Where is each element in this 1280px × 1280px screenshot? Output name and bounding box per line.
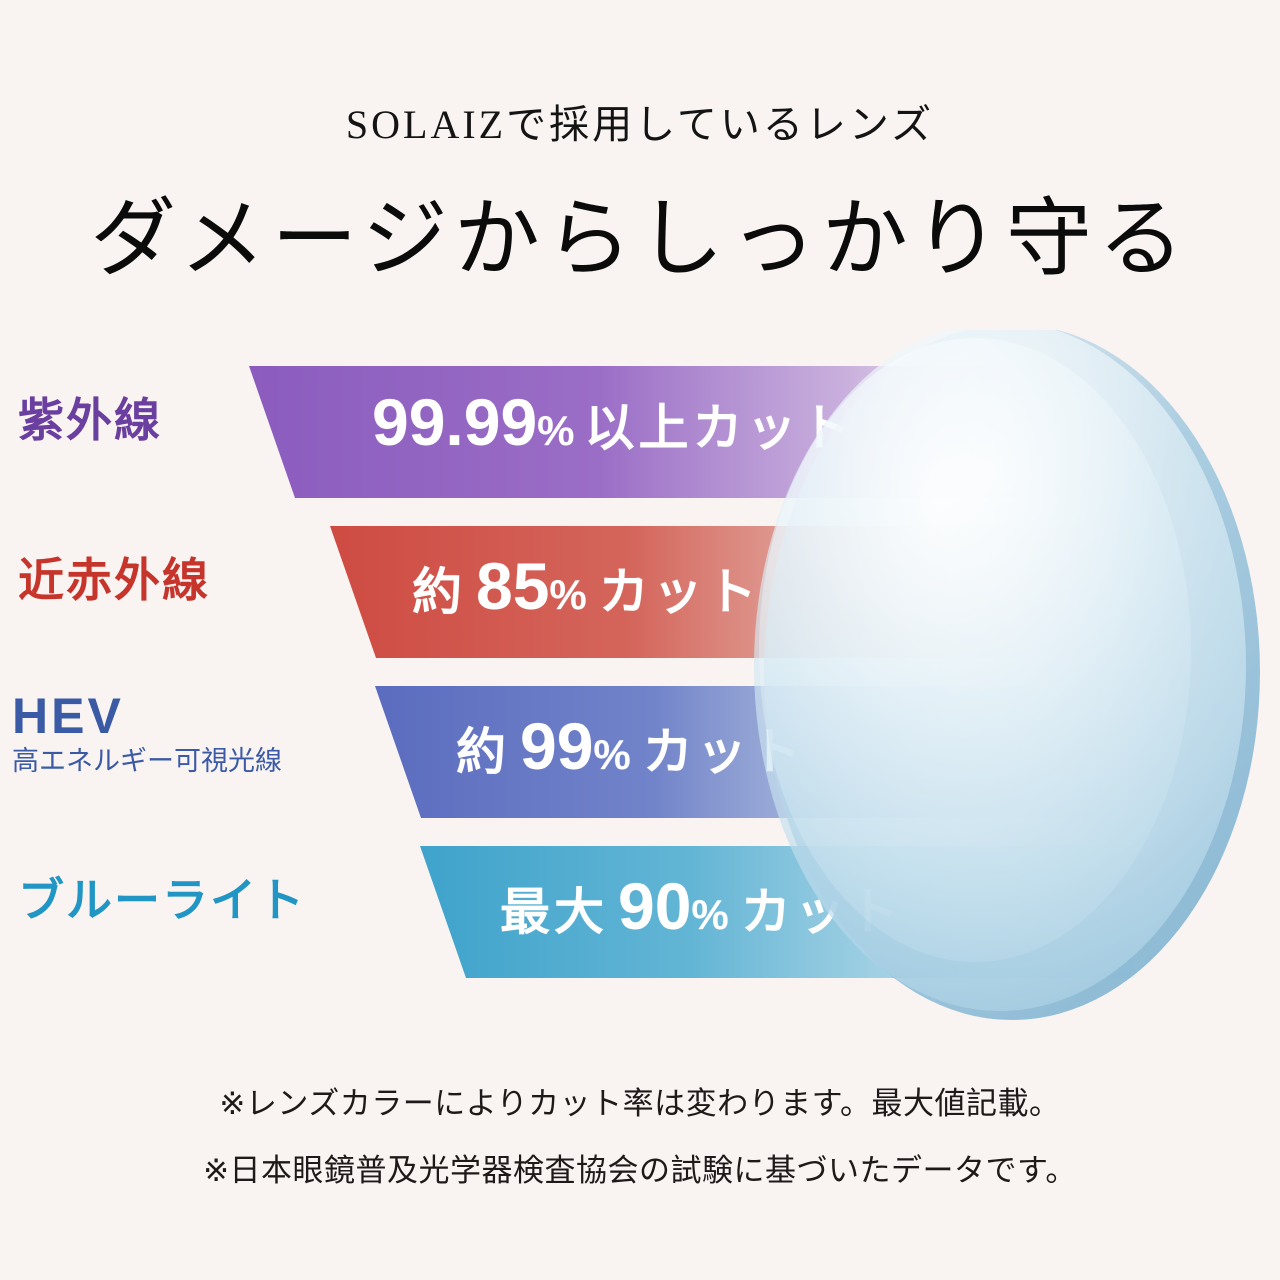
bar-value-uv-number: 99.99 bbox=[372, 385, 537, 459]
footnote-1: ※レンズカラーによりカット率は変わります。最大値記載。 bbox=[0, 1078, 1280, 1123]
bar-value-hev-prefix: 約 bbox=[456, 724, 510, 780]
bar-value-hev-percent: % bbox=[593, 731, 630, 778]
bar-value-hev: 約99%カット bbox=[456, 708, 805, 784]
category-label-bluelight: ブルーライト bbox=[18, 876, 306, 925]
poster-canvas: SOLAIZで採用しているレンズ ダメージからしっかり守る bbox=[0, 0, 1280, 1280]
bar-value-uv: 99.99%以上カット bbox=[372, 384, 855, 460]
bar-value-nir-percent: % bbox=[549, 571, 586, 618]
bar-value-bluelight-percent: % bbox=[691, 891, 728, 938]
bar-value-nir-number: 85 bbox=[476, 549, 549, 623]
bar-value-bluelight: 最大90%カット bbox=[500, 868, 903, 944]
category-label-uv: 紫外線 bbox=[18, 396, 162, 445]
eyebrow-text: SOLAIZで採用しているレンズ bbox=[0, 92, 1280, 150]
category-label-uv-text: 紫外線 bbox=[18, 396, 162, 445]
category-label-hev-sub: 高エネルギー可視光線 bbox=[12, 745, 282, 779]
bar-value-bluelight-suffix: カット bbox=[741, 884, 903, 940]
bar-value-hev-number: 99 bbox=[520, 709, 593, 783]
category-label-hev: HEV 高エネルギー可視光線 bbox=[12, 690, 282, 779]
bar-value-uv-percent: % bbox=[537, 407, 574, 454]
bar-value-uv-suffix: 以上カット bbox=[585, 400, 855, 456]
bar-value-nir: 約85%カット bbox=[412, 548, 761, 624]
footnote-group: ※レンズカラーによりカット率は変わります。最大値記載。 ※日本眼鏡普及光学器検査… bbox=[0, 1078, 1280, 1212]
category-label-bluelight-text: ブルーライト bbox=[18, 876, 306, 925]
footnote-2: ※日本眼鏡普及光学器検査協会の試験に基づいたデータです。 bbox=[0, 1145, 1280, 1190]
category-label-hev-text: HEV bbox=[12, 690, 282, 743]
bar-value-bluelight-prefix: 最大 bbox=[500, 884, 608, 940]
bar-group: 99.99%以上カット 約 bbox=[0, 330, 1280, 1040]
category-label-nir-text: 近赤外線 bbox=[18, 556, 210, 605]
bar-value-nir-prefix: 約 bbox=[412, 564, 466, 620]
bar-value-hev-suffix: カット bbox=[643, 724, 805, 780]
bar-row-uv: 99.99%以上カット bbox=[0, 366, 1280, 498]
bar-value-nir-suffix: カット bbox=[599, 564, 761, 620]
protection-chart: 99.99%以上カット 約 bbox=[0, 330, 1280, 1040]
page-title: ダメージからしっかり守る bbox=[0, 168, 1280, 293]
category-label-nir: 近赤外線 bbox=[18, 556, 210, 605]
bar-value-bluelight-number: 90 bbox=[618, 869, 691, 943]
